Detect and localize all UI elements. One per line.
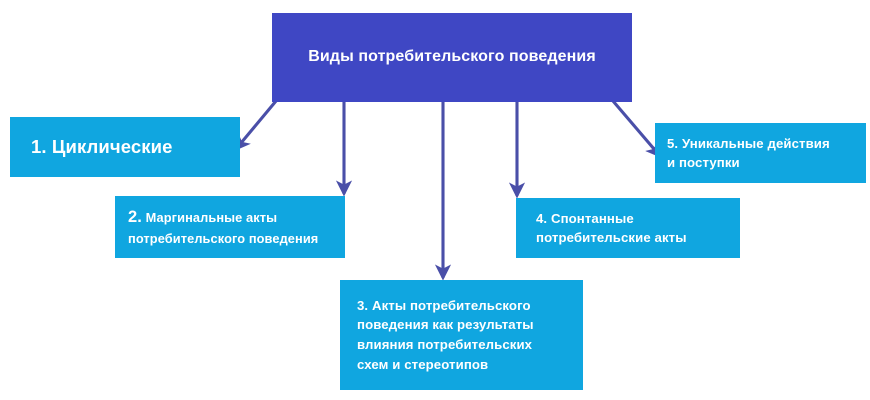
diagram-canvas: Виды потребительского поведения 1. Цикли… — [0, 0, 870, 400]
node-marginal-acts-body: Маргинальные акты потребительского повед… — [128, 210, 318, 246]
node-spontaneous-acts-number: 4. — [536, 211, 547, 226]
node-spontaneous-acts: 4. Спонтанные потребительские акты — [516, 198, 740, 258]
node-spontaneous-acts-body: Спонтанные потребительские акты — [536, 211, 687, 245]
node-marginal-acts-label: 2. Маргинальные акты потребительского по… — [128, 206, 318, 248]
arrow-to-node-5 — [613, 101, 660, 156]
node-unique-actions-label: 5. Уникальные действия и поступки — [667, 134, 830, 172]
node-spontaneous-acts-label: 4. Спонтанные потребительские акты — [536, 209, 687, 247]
node-cyclical: 1. Циклические — [10, 117, 240, 177]
root-node-label: Виды потребительского поведения — [272, 48, 632, 68]
node-schema-stereotype-acts-label: 3. Акты потребительского поведения как р… — [357, 296, 534, 374]
node-marginal-acts: 2. Маргинальные акты потребительского по… — [115, 196, 345, 258]
root-node-consumer-behavior-types: Виды потребительского поведения — [272, 13, 632, 102]
arrow-to-node-1 — [236, 101, 276, 149]
node-schema-stereotype-acts: 3. Акты потребительского поведения как р… — [340, 280, 583, 390]
node-unique-actions-body: Уникальные действия и поступки — [667, 136, 830, 170]
node-unique-actions: 5. Уникальные действия и поступки — [655, 123, 866, 183]
node-unique-actions-number: 5. — [667, 136, 678, 151]
node-marginal-acts-number: 2. — [128, 208, 142, 226]
node-cyclical-label: 1. Циклические — [31, 136, 172, 158]
